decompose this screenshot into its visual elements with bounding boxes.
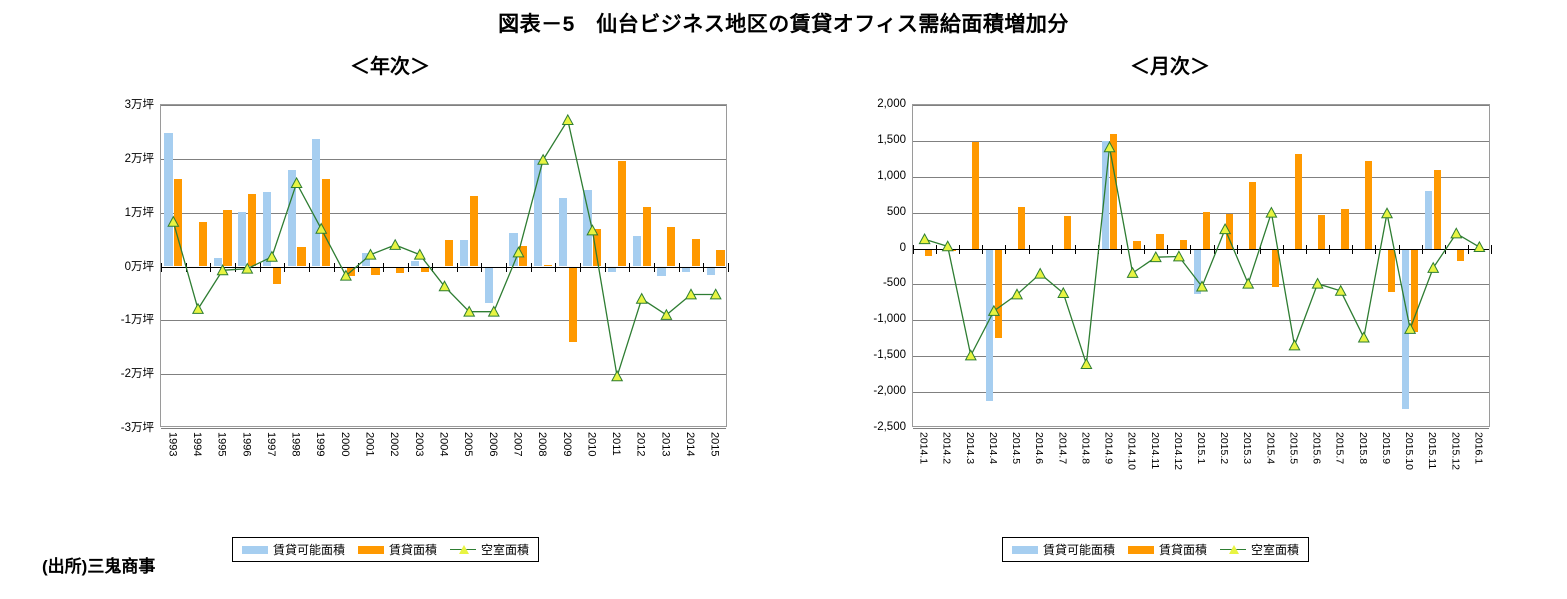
plot-frame <box>912 104 1490 427</box>
legend-label-leased: 賃貸面積 <box>389 541 437 558</box>
x-axis-tick-label: 2012 <box>635 432 647 456</box>
x-axis-tick-label: 2007 <box>511 432 523 456</box>
vacant-area-marker <box>316 224 326 234</box>
vacant-area-marker <box>267 252 277 262</box>
x-axis-tick-label: 2005 <box>462 432 474 456</box>
legend-label-vacant: 空室面積 <box>1251 541 1299 558</box>
vacant-area-marker <box>966 350 976 360</box>
vacant-area-marker <box>538 155 548 165</box>
x-axis-tick-label: 2015.11 <box>1426 432 1438 469</box>
vacant-area-marker <box>365 250 375 260</box>
x-axis-tick-label: 2015.5 <box>1287 432 1299 464</box>
x-axis-tick-label: 1993 <box>166 432 178 456</box>
vacant-area-marker <box>563 115 573 125</box>
legend-label-leased: 賃貸面積 <box>1159 541 1207 558</box>
y-axis-tick-label: -1万坪 <box>20 311 154 327</box>
y-axis-tick-label: -2,500 <box>790 421 906 433</box>
chart-panel-annual: ＜年次＞ 3万坪2万坪1万坪0万坪-1万坪-2万坪-3万坪19931994199… <box>20 52 760 82</box>
chart-legend: 賃貸可能面積賃貸面積空室面積 <box>232 537 539 562</box>
vacant-area-marker <box>1289 340 1299 350</box>
legend-label-available: 賃貸可能面積 <box>1043 541 1115 558</box>
vacant-area-marker <box>1127 268 1137 278</box>
legend-item-available: 賃貸可能面積 <box>242 541 345 558</box>
vacant-area-marker <box>193 304 203 314</box>
y-axis-tick-label: 2,000 <box>790 98 906 110</box>
y-axis-tick-label: 0万坪 <box>20 258 154 274</box>
vacant-area-marker <box>919 234 929 244</box>
x-axis-tick-label: 2014.1 <box>918 432 930 464</box>
legend-line-marker-vacant-icon <box>1220 545 1246 555</box>
vacant-area-marker <box>390 240 400 250</box>
x-axis-tick-label: 2015.7 <box>1334 432 1346 464</box>
y-axis-tick-label: -3万坪 <box>20 419 154 435</box>
vacant-area-line-series <box>161 105 728 428</box>
x-axis-tick-label: 2014.4 <box>987 432 999 464</box>
vacant-area-line-series <box>913 105 1491 428</box>
vacant-area-marker <box>587 225 597 235</box>
x-axis-tick-label: 2015.1 <box>1195 432 1207 464</box>
legend-item-vacant: 空室面積 <box>450 541 529 558</box>
y-axis-tick-label: 0 <box>790 242 906 254</box>
plot-frame <box>160 104 727 427</box>
x-axis-tick-label: 2014 <box>684 432 696 456</box>
x-axis-tick-label: 2015.3 <box>1241 432 1253 464</box>
x-axis-tick-label: 1998 <box>290 432 302 456</box>
legend-swatch-leased-icon <box>1128 546 1154 554</box>
vacant-area-marker <box>1405 324 1415 334</box>
legend-swatch-leased-icon <box>358 546 384 554</box>
vacant-area-marker <box>1220 224 1230 234</box>
x-axis-tick-label: 2014.12 <box>1172 432 1184 470</box>
x-axis-tick-label: 2015 <box>709 432 721 456</box>
vacant-area-marker <box>989 306 999 316</box>
vacant-area-marker <box>1243 279 1253 289</box>
x-axis-tick-label: 2015.12 <box>1449 432 1461 470</box>
x-axis-tick-label: 2016.1 <box>1472 432 1484 464</box>
x-axis-tick-label: 2000 <box>339 432 351 456</box>
x-axis-tick-label: 2015.8 <box>1357 432 1369 464</box>
x-axis-tick-label: 1997 <box>265 432 277 456</box>
x-axis-tick <box>1491 245 1492 254</box>
vacant-area-marker <box>637 294 647 304</box>
x-axis-tick-label: 2014.7 <box>1056 432 1068 464</box>
x-axis-tick-label: 2009 <box>561 432 573 456</box>
y-axis-tick-label: 1,500 <box>790 134 906 146</box>
x-axis-tick-label: 2014.2 <box>941 432 953 464</box>
x-axis-tick-label: 2014.5 <box>1010 432 1022 464</box>
legend-label-vacant: 空室面積 <box>481 541 529 558</box>
vacant-area-marker <box>513 247 523 257</box>
x-axis-tick <box>728 263 729 272</box>
legend-item-vacant: 空室面積 <box>1220 541 1299 558</box>
x-axis-tick-label: 2014.3 <box>964 432 976 464</box>
x-axis-tick-label: 2014.10 <box>1126 432 1138 470</box>
vacant-area-marker <box>1474 242 1484 252</box>
gridline <box>913 428 1489 429</box>
x-axis-tick-label: 2015.2 <box>1218 432 1230 464</box>
y-axis-tick-label: -500 <box>790 277 906 289</box>
vacant-area-marker <box>1382 208 1392 218</box>
x-axis-tick-label: 2011 <box>610 432 622 456</box>
y-axis-tick-label: -1,500 <box>790 349 906 361</box>
vacant-area-marker <box>1336 286 1346 296</box>
x-axis-tick-label: 2015.9 <box>1380 432 1392 464</box>
legend-label-available: 賃貸可能面積 <box>273 541 345 558</box>
x-axis-tick-label: 1999 <box>314 432 326 456</box>
legend-swatch-available-icon <box>1012 546 1038 554</box>
x-axis-tick-label: 2015.4 <box>1264 432 1276 464</box>
y-axis-tick-label: 500 <box>790 206 906 218</box>
x-axis-tick-label: 2008 <box>536 432 548 456</box>
legend-item-available: 賃貸可能面積 <box>1012 541 1115 558</box>
legend-line-marker-vacant-icon <box>450 545 476 555</box>
x-axis-tick-label: 2015.6 <box>1311 432 1323 464</box>
x-axis-tick-label: 1995 <box>216 432 228 456</box>
x-axis-tick-label: 2014.8 <box>1079 432 1091 464</box>
x-axis-tick-label: 1994 <box>191 432 203 456</box>
vacant-area-marker <box>1312 279 1322 289</box>
vacant-area-marker <box>1035 269 1045 279</box>
x-axis-tick-label: 2001 <box>364 432 376 456</box>
page-title: 図表－5 仙台ビジネス地区の賃貸オフィス需給面積増加分 <box>0 8 1567 38</box>
vacant-area-marker <box>168 217 178 227</box>
y-axis-tick-label: 3万坪 <box>20 96 154 112</box>
gridline <box>161 428 726 429</box>
y-axis-tick-label: 2万坪 <box>20 150 154 166</box>
chart-panel-monthly: ＜月次＞ 2,0001,5001,0005000-500-1,000-1,500… <box>790 52 1550 82</box>
x-axis-tick-label: 2004 <box>438 432 450 456</box>
panel-title-annual: ＜年次＞ <box>20 52 760 82</box>
x-axis-tick-label: 2015.10 <box>1403 432 1415 470</box>
vacant-area-marker <box>415 250 425 260</box>
panel-title-monthly: ＜月次＞ <box>790 52 1550 82</box>
x-axis-tick-label: 2006 <box>487 432 499 456</box>
y-axis-tick-label: 1,000 <box>790 170 906 182</box>
vacant-area-marker <box>1359 332 1369 342</box>
vacant-area-marker <box>612 371 622 381</box>
legend-item-leased: 賃貸面積 <box>358 541 437 558</box>
vacant-area-marker <box>1266 208 1276 218</box>
vacant-area-marker <box>1428 263 1438 273</box>
y-axis-tick-label: -2万坪 <box>20 365 154 381</box>
vacant-area-marker <box>943 241 953 251</box>
y-axis-tick-label: 1万坪 <box>20 204 154 220</box>
x-axis-tick-label: 1996 <box>240 432 252 456</box>
y-axis-tick-label: -1,000 <box>790 313 906 325</box>
source-note: (出所)三鬼商事 <box>42 552 155 577</box>
x-axis-tick-label: 2013 <box>659 432 671 456</box>
x-axis-tick-label: 2014.9 <box>1103 432 1115 464</box>
vacant-area-marker <box>1081 359 1091 369</box>
legend-item-leased: 賃貸面積 <box>1128 541 1207 558</box>
x-axis-tick-label: 2014.6 <box>1033 432 1045 464</box>
chart-legend: 賃貸可能面積賃貸面積空室面積 <box>1002 537 1309 562</box>
vacant-area-marker <box>1104 142 1114 152</box>
x-axis-tick-label: 2003 <box>413 432 425 456</box>
vacant-area-marker <box>1451 228 1461 238</box>
legend-swatch-available-icon <box>242 546 268 554</box>
x-axis-tick-label: 2002 <box>388 432 400 456</box>
vacant-area-marker <box>291 178 301 188</box>
x-axis-tick-label: 2010 <box>585 432 597 456</box>
x-axis-tick-label: 2014.11 <box>1149 432 1161 469</box>
y-axis-tick-label: -2,000 <box>790 385 906 397</box>
